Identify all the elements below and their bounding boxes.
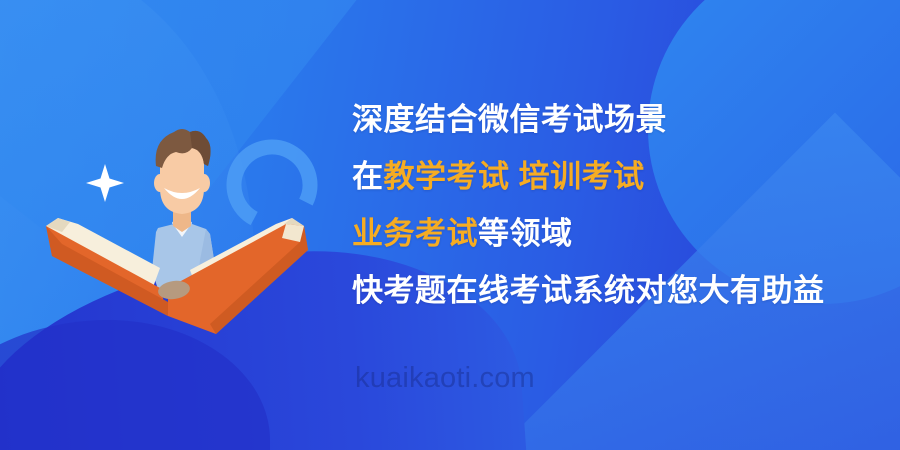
headline-line-2: 在教学考试 培训考试 [352,161,872,192]
headline-line-3: 业务考试等领域 [352,218,872,249]
headline-line-3-accent: 业务考试 [352,216,478,251]
sparkle-icon [86,164,124,202]
headline-line-3-suffix: 等领域 [478,216,573,251]
headline-line-2-accent: 教学考试 培训考试 [384,159,645,194]
headline-line-4: 快考题在线考试系统对您大有助益 [352,275,872,306]
headline-line-1-text: 深度结合微信考试场景 [352,102,667,137]
headline-line-4-text: 快考题在线考试系统对您大有助益 [352,273,825,308]
watermark-text: kuaikaoti.com [355,362,535,395]
promo-banner: 深度结合微信考试场景 在教学考试 培训考试 业务考试等领域 快考题在线考试系统对… [0,0,900,450]
headline-line-1: 深度结合微信考试场景 [352,104,872,135]
headline-block: 深度结合微信考试场景 在教学考试 培训考试 业务考试等领域 快考题在线考试系统对… [352,104,872,306]
ring-icon [221,134,324,237]
headline-line-2-prefix: 在 [352,159,384,194]
illustration-person-reading-book [40,120,340,360]
